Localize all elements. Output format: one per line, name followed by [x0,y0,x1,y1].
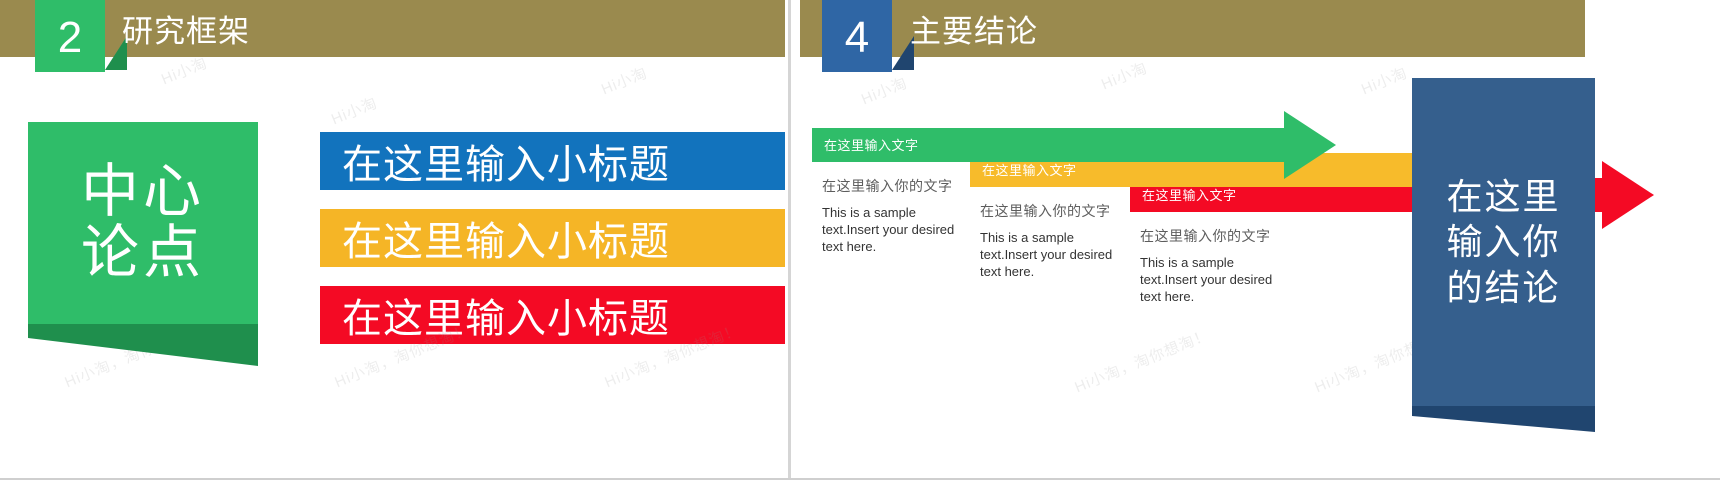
watermark: Hi小淘，淘你想淘！ [1071,324,1213,397]
subtitle-bar-3-label: 在这里输入小标题 [342,286,670,344]
arrow-green-subtitle: 在这里输入你的文字 [822,176,953,196]
arrow-head-icon [1284,111,1336,179]
subtitle-bar-1[interactable]: 在这里输入小标题 [320,132,785,190]
slide-number-badge-4: 4 [822,0,892,72]
slide-number-text: 2 [35,0,105,72]
arrow-yellow-label: 在这里输入文字 [982,160,1077,179]
arrow-shaft-green: 在这里输入文字 [812,128,1332,162]
arrow-green-body: This is a sample text.Insert your desire… [822,204,972,255]
conclusion-line-3: 的结论 [1446,265,1560,310]
slide-title-left: 研究框架 [122,6,250,51]
arrow-head-icon [1602,161,1654,229]
watermark: Hi小淘 [158,52,211,90]
conclusion-ribbon[interactable]: 在这里 输入你 的结论 [1412,78,1595,432]
slide-panel-divider [788,0,791,478]
conclusion-line-1: 在这里 [1446,174,1560,219]
subtitle-bar-1-label: 在这里输入小标题 [342,132,670,190]
central-thesis-line-2: 论点 [81,222,205,283]
arrow-red-body: This is a sample text.Insert your desire… [1140,254,1290,305]
slide-research-framework: 2 研究框架 Hi小淘 Hi小淘 Hi小淘 Hi小淘，淘你想淘！ Hi小淘，淘你… [0,0,785,478]
ribbon-fold-icon [28,324,258,366]
watermark: Hi小淘 [328,92,381,130]
slide-number-text: 4 [822,0,892,72]
central-thesis-face: 中心 论点 [28,122,258,324]
slide-number-badge-2: 2 [35,0,105,72]
slides-stage: 2 研究框架 Hi小淘 Hi小淘 Hi小淘 Hi小淘，淘你想淘！ Hi小淘，淘你… [0,0,1720,490]
conclusion-face: 在这里 输入你 的结论 [1412,78,1595,406]
central-thesis-block[interactable]: 中心 论点 [28,122,258,366]
watermark: Hi小淘 [598,62,651,100]
arrow-red-subtitle: 在这里输入你的文字 [1140,226,1271,246]
arrow-yellow-subtitle: 在这里输入你的文字 [980,201,1111,221]
subtitle-bar-2[interactable]: 在这里输入小标题 [320,209,785,267]
conclusion-arrow-green[interactable]: 在这里输入文字 在这里输入你的文字 This is a sample text.… [812,128,1332,162]
arrow-green-label: 在这里输入文字 [824,135,919,154]
subtitle-bar-2-label: 在这里输入小标题 [342,209,670,267]
slide-title-right: 主要结论 [910,6,1038,51]
watermark: Hi小淘 [1358,62,1411,100]
watermark: Hi小淘 [1098,57,1151,95]
watermark: Hi小淘 [858,72,911,110]
arrow-red-label: 在这里输入文字 [1142,185,1237,204]
ribbon-fold-icon [1412,406,1595,432]
central-thesis-line-1: 中心 [81,161,205,222]
central-thesis-ribbon-tail [28,324,258,366]
arrow-yellow-body: This is a sample text.Insert your desire… [980,229,1130,280]
conclusion-ribbon-tail [1412,406,1595,432]
conclusion-line-2: 输入你 [1446,219,1560,264]
